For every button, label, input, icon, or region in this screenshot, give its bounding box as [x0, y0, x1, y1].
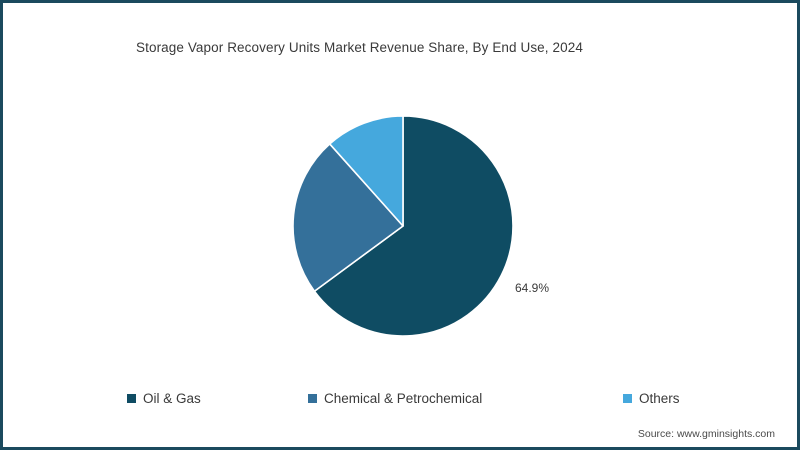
pie-slice-group: [293, 116, 513, 336]
legend-label-chemical-and-petrochemical: Chemical & Petrochemical: [324, 391, 482, 406]
chart-canvas: Storage Vapor Recovery Units Market Reve…: [0, 0, 800, 450]
page-title: Storage Vapor Recovery Units Market Reve…: [136, 40, 583, 55]
legend-swatch-icon-others: [623, 394, 632, 403]
legend-swatch-icon-chemical-and-petrochemical: [308, 394, 317, 403]
pie-chart: [293, 116, 513, 336]
source-note: Source: www.gminsights.com: [638, 428, 775, 440]
legend-swatch-icon-oil-and-gas: [127, 394, 136, 403]
legend-item-chemical-and-petrochemical[interactable]: Chemical & Petrochemical: [308, 387, 482, 409]
legend-item-oil-and-gas[interactable]: Oil & Gas: [127, 387, 201, 409]
pie-slice-label-oil-and-gas: 64.9%: [515, 281, 549, 295]
legend-label-others: Others: [639, 391, 680, 406]
legend-label-oil-and-gas: Oil & Gas: [143, 391, 201, 406]
chart-legend: Oil & Gas Chemical & Petrochemical Other…: [3, 387, 800, 409]
legend-item-others[interactable]: Others: [623, 387, 680, 409]
pie-chart-svg: [293, 116, 513, 336]
